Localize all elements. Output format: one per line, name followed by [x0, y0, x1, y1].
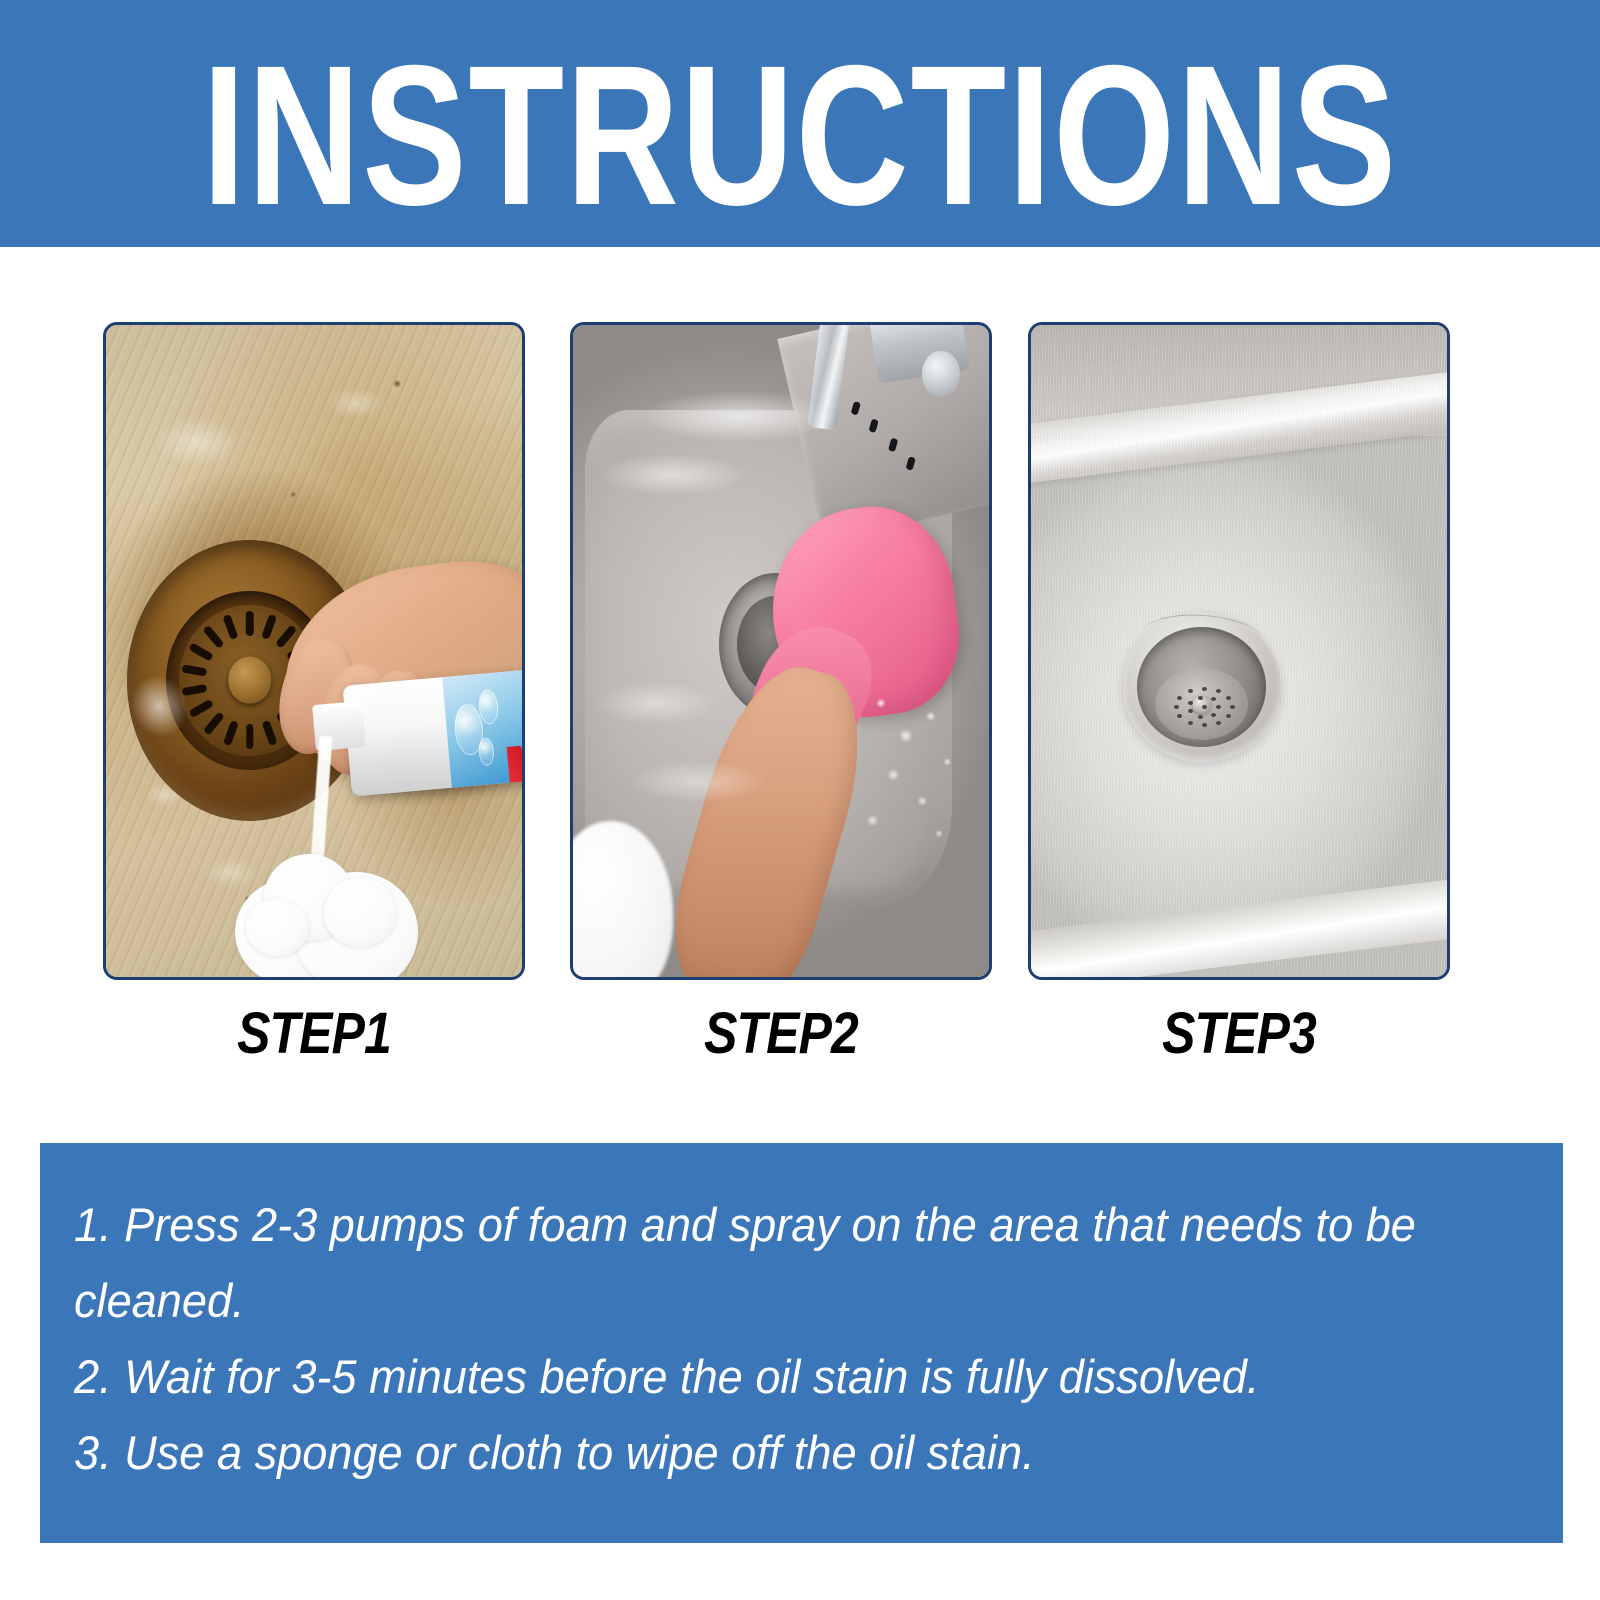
step-card-2 [570, 322, 992, 980]
foam-blob [324, 878, 395, 947]
step-1-photo-dirty-sink: FOAM Jue-Fish [106, 325, 522, 977]
instructions-notes-panel: 1. Press 2-3 pumps of foam and spray on … [40, 1143, 1563, 1543]
strainer-slot [181, 665, 207, 677]
strainer-perforation [1177, 714, 1182, 718]
strainer-slot [188, 699, 213, 718]
step-label-3: STEP3 [1058, 1002, 1421, 1066]
step-3-photo-clean-sink [1031, 325, 1447, 977]
strainer-perforation [1202, 687, 1207, 691]
note-line-2: 2. Wait for 3-5 minutes before the oil s… [74, 1339, 1471, 1415]
strainer-perforation [1202, 705, 1207, 709]
step-card-1: FOAM Jue-Fish [103, 322, 525, 980]
strainer-perforation [1211, 713, 1216, 717]
strainer-perforation [1198, 715, 1203, 719]
strainer-perforation [1226, 696, 1231, 700]
bubble-icon [478, 737, 495, 766]
note-line-1: 1. Press 2-3 pumps of foam and spray on … [74, 1187, 1471, 1339]
clean-strainer [1155, 668, 1248, 740]
step-card-3 [1028, 322, 1450, 980]
strainer-perforation [1202, 723, 1207, 727]
strainer-perforation [1198, 696, 1203, 700]
strainer-perforation [1174, 705, 1179, 709]
strainer-slot [202, 712, 224, 736]
strainer-perforation [1188, 709, 1193, 713]
step-label-2: STEP2 [600, 1002, 963, 1066]
strainer-slot [222, 720, 238, 746]
strainer-perforation [1177, 696, 1182, 700]
strainer-perforation [1211, 697, 1216, 701]
step-label-row: STEP1 STEP2 STEP3 [0, 1002, 1600, 1078]
foam-pump-bottle: FOAM Jue-Fish [343, 669, 522, 797]
step-2-photo-scrubbing-sink [573, 325, 989, 977]
strainer-slot [246, 611, 254, 636]
strainer-slot [202, 625, 224, 649]
strainer-hub [228, 657, 271, 704]
strainer-slot [181, 684, 207, 696]
clean-drain [1123, 612, 1281, 762]
strainer-slot [261, 614, 277, 640]
strainer-slot [222, 614, 238, 640]
step-label-1: STEP1 [133, 1002, 496, 1066]
strainer-perforation [1216, 721, 1221, 725]
page-title: INSTRUCTIONS [96, 36, 1504, 235]
foam-blob [246, 899, 310, 956]
strainer-slot [188, 643, 213, 662]
strainer-perforation [1188, 701, 1193, 705]
foam-pile [231, 827, 418, 977]
header-banner: INSTRUCTIONS [0, 0, 1600, 247]
strainer-slot [246, 724, 254, 749]
step-image-row: FOAM Jue-Fish [0, 322, 1600, 982]
instructions-infographic: INSTRUCTIONS [0, 0, 1600, 1600]
note-line-3: 3. Use a sponge or cloth to wipe off the… [74, 1415, 1471, 1491]
brand-shield-icon [506, 745, 522, 787]
bottle-label: FOAM Jue-Fish [442, 669, 522, 788]
strainer-perforation [1226, 714, 1231, 718]
strainer-perforation [1188, 721, 1193, 725]
strainer-perforation [1216, 705, 1221, 709]
strainer-perforation [1216, 689, 1221, 693]
strainer-slot [261, 720, 277, 746]
strainer-perforation [1230, 705, 1235, 709]
strainer-perforation [1188, 689, 1193, 693]
